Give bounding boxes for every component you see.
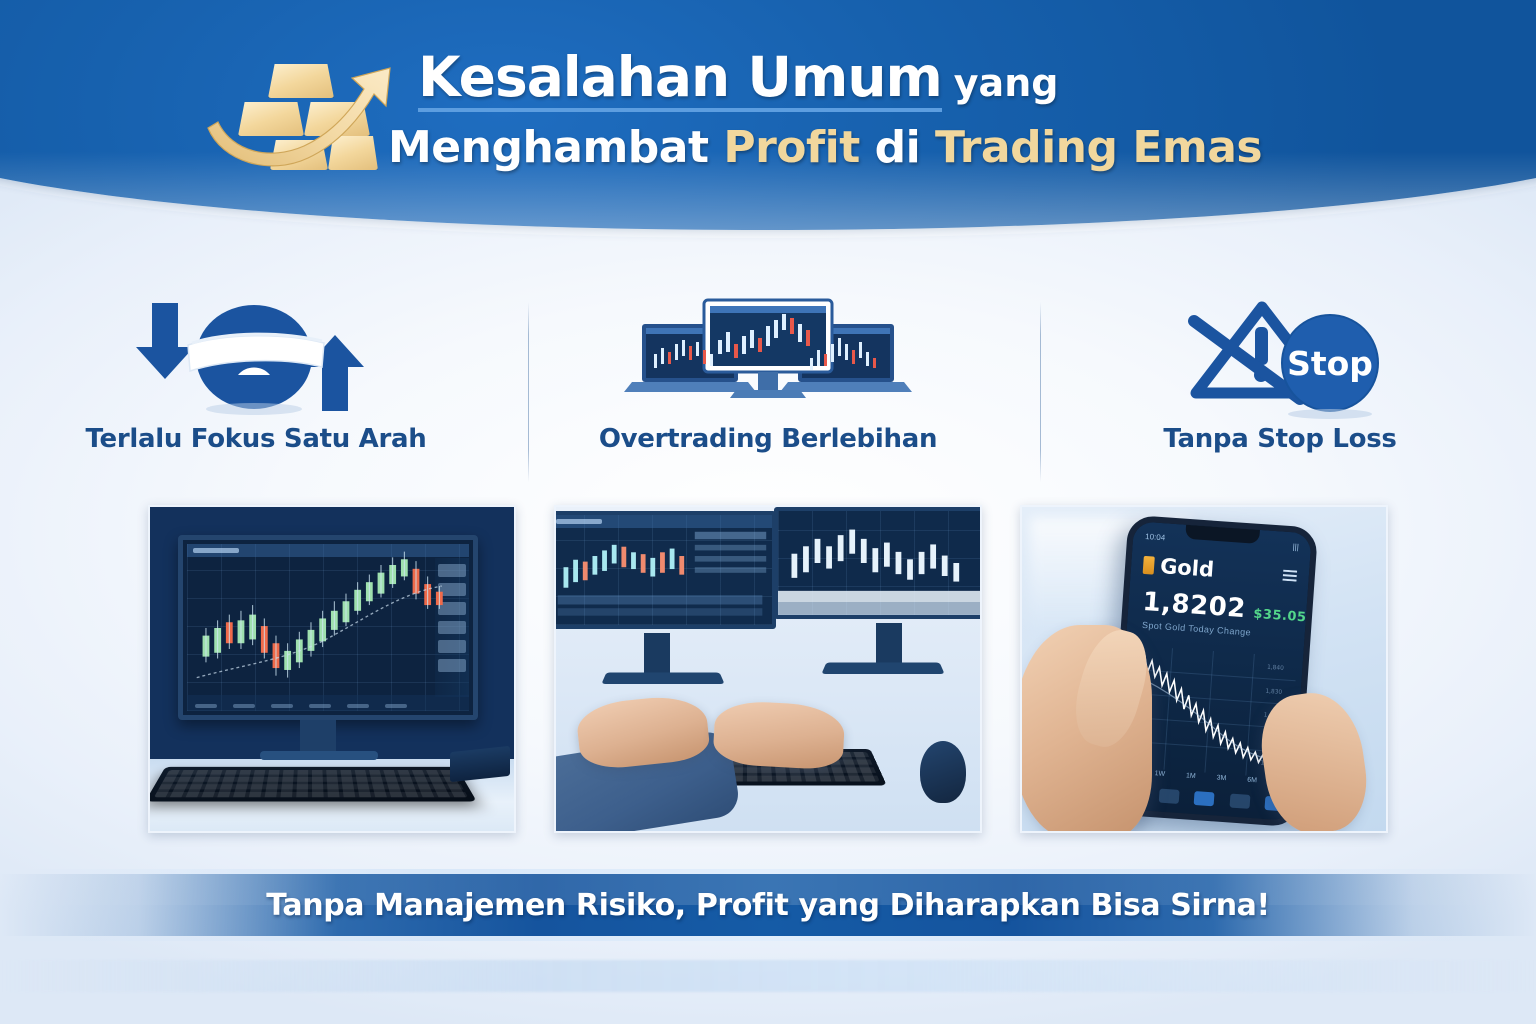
icon-box-3: Stop: [1150, 292, 1410, 422]
photo3-nav-icon-4[interactable]: [1229, 793, 1250, 808]
photo3-tab-6m[interactable]: 6M: [1247, 776, 1257, 784]
photo3-price-value: 1,8202: [1142, 587, 1247, 624]
gold-bars-growth-arrow-logo: [200, 54, 410, 194]
column-label-2: Overtrading Berlebihan: [599, 424, 937, 454]
blindfolded-eye-with-up-down-arrows-icon: [126, 297, 386, 417]
hamburger-menu-icon[interactable]: [1283, 569, 1298, 581]
photo2-right-monitor: [774, 507, 982, 619]
photo3-tab-1m[interactable]: 1M: [1186, 772, 1196, 780]
gold-bar-icon: [1143, 556, 1155, 575]
photo1-monitor-base: [260, 751, 378, 760]
photo1-closed-laptop: [450, 746, 510, 782]
photo3-tab-3m[interactable]: 3M: [1216, 774, 1226, 782]
photo3-nav-icon-2[interactable]: [1158, 789, 1179, 804]
multi-monitor-trading-screens-icon: [618, 292, 918, 422]
photo3-asset-label: Gold: [1159, 554, 1214, 582]
photo2-right-base: [821, 662, 944, 674]
desktop-monitor-candlestick-chart-photo: [148, 505, 516, 833]
title-line-2: Menghambat Profit di Trading Emas: [388, 126, 1262, 170]
column-label-1: Terlalu Fokus Satu Arah: [86, 424, 427, 454]
photo3-nav-icon-3[interactable]: [1194, 791, 1215, 806]
column-terlalu-fokus-satu-arah: Terlalu Fokus Satu Arah: [0, 292, 512, 492]
photo1-keyboard: [148, 767, 477, 802]
photo2-right-chart: [778, 511, 982, 615]
photo2-mouse: [920, 741, 966, 803]
photo2-left-chart: [554, 515, 772, 625]
photo2-left-base: [601, 672, 724, 684]
title-suffix: yang: [954, 61, 1059, 105]
column-label-3: Tanpa Stop Loss: [1163, 424, 1396, 454]
footer-band-bottom-edge: [0, 936, 1536, 941]
photo3-tab-1w[interactable]: 1W: [1154, 770, 1165, 778]
photo1-monitor-screen: [187, 544, 469, 711]
column-overtrading-berlebihan: Overtrading Berlebihan: [512, 292, 1024, 492]
header-banner: Kesalahan Umumyang Menghambat Profit di …: [0, 0, 1536, 260]
title-word-trading-emas: Trading Emas: [935, 122, 1262, 173]
icon-box-1: [126, 292, 386, 422]
growth-arrow-icon: [200, 54, 410, 194]
photo2-right-stand: [876, 623, 902, 667]
svg-text:1,830: 1,830: [1265, 689, 1282, 696]
icon-box-2: [618, 292, 918, 422]
photo1-candlestick-chart: [187, 544, 469, 711]
photo2-left-monitor: [554, 511, 776, 629]
title-word-di: di: [875, 122, 921, 173]
infographic-poster: Kesalahan Umumyang Menghambat Profit di …: [0, 0, 1536, 1024]
bottom-sheen: [0, 960, 1536, 992]
footer-tagline: Tanpa Manajemen Risiko, Profit yang Diha…: [0, 874, 1536, 936]
title-word-menghambat: Menghambat: [388, 122, 709, 173]
header-titles: Kesalahan Umumyang Menghambat Profit di …: [418, 48, 1262, 170]
page-title: Kesalahan Umum: [418, 50, 942, 112]
footer-banner: Tanpa Manajemen Risiko, Profit yang Diha…: [0, 866, 1536, 946]
stop-badge-text: Stop: [1287, 344, 1373, 383]
icon-columns: Terlalu Fokus Satu Arah: [0, 292, 1536, 492]
photo3-price-change: $35.05: [1253, 607, 1307, 626]
trader-hands-on-keyboard-dual-monitors-photo: [554, 505, 982, 833]
title-line-1: Kesalahan Umumyang: [418, 50, 1262, 112]
hand-holding-phone-gold-price-photo: 10:04 ||| Gold 1,8202$35.05: [1020, 505, 1388, 833]
title-word-profit: Profit: [723, 122, 859, 173]
column-tanpa-stop-loss: Stop Tanpa Stop Loss: [1024, 292, 1536, 492]
photo-row: 10:04 ||| Gold 1,8202$35.05: [0, 505, 1536, 835]
photo1-monitor: [178, 535, 478, 720]
photo3-asset-block: Gold: [1142, 553, 1214, 582]
photo2-left-stand: [644, 633, 670, 673]
photo3-app-header: Gold: [1140, 553, 1299, 588]
photo1-monitor-stand: [300, 720, 336, 754]
warning-triangle-crossed-out-with-stop-badge-icon: Stop: [1150, 295, 1410, 420]
photo3-status-icons: |||: [1292, 542, 1299, 551]
photo3-status-time: 10:04: [1145, 532, 1166, 542]
svg-text:1,840: 1,840: [1267, 665, 1284, 672]
